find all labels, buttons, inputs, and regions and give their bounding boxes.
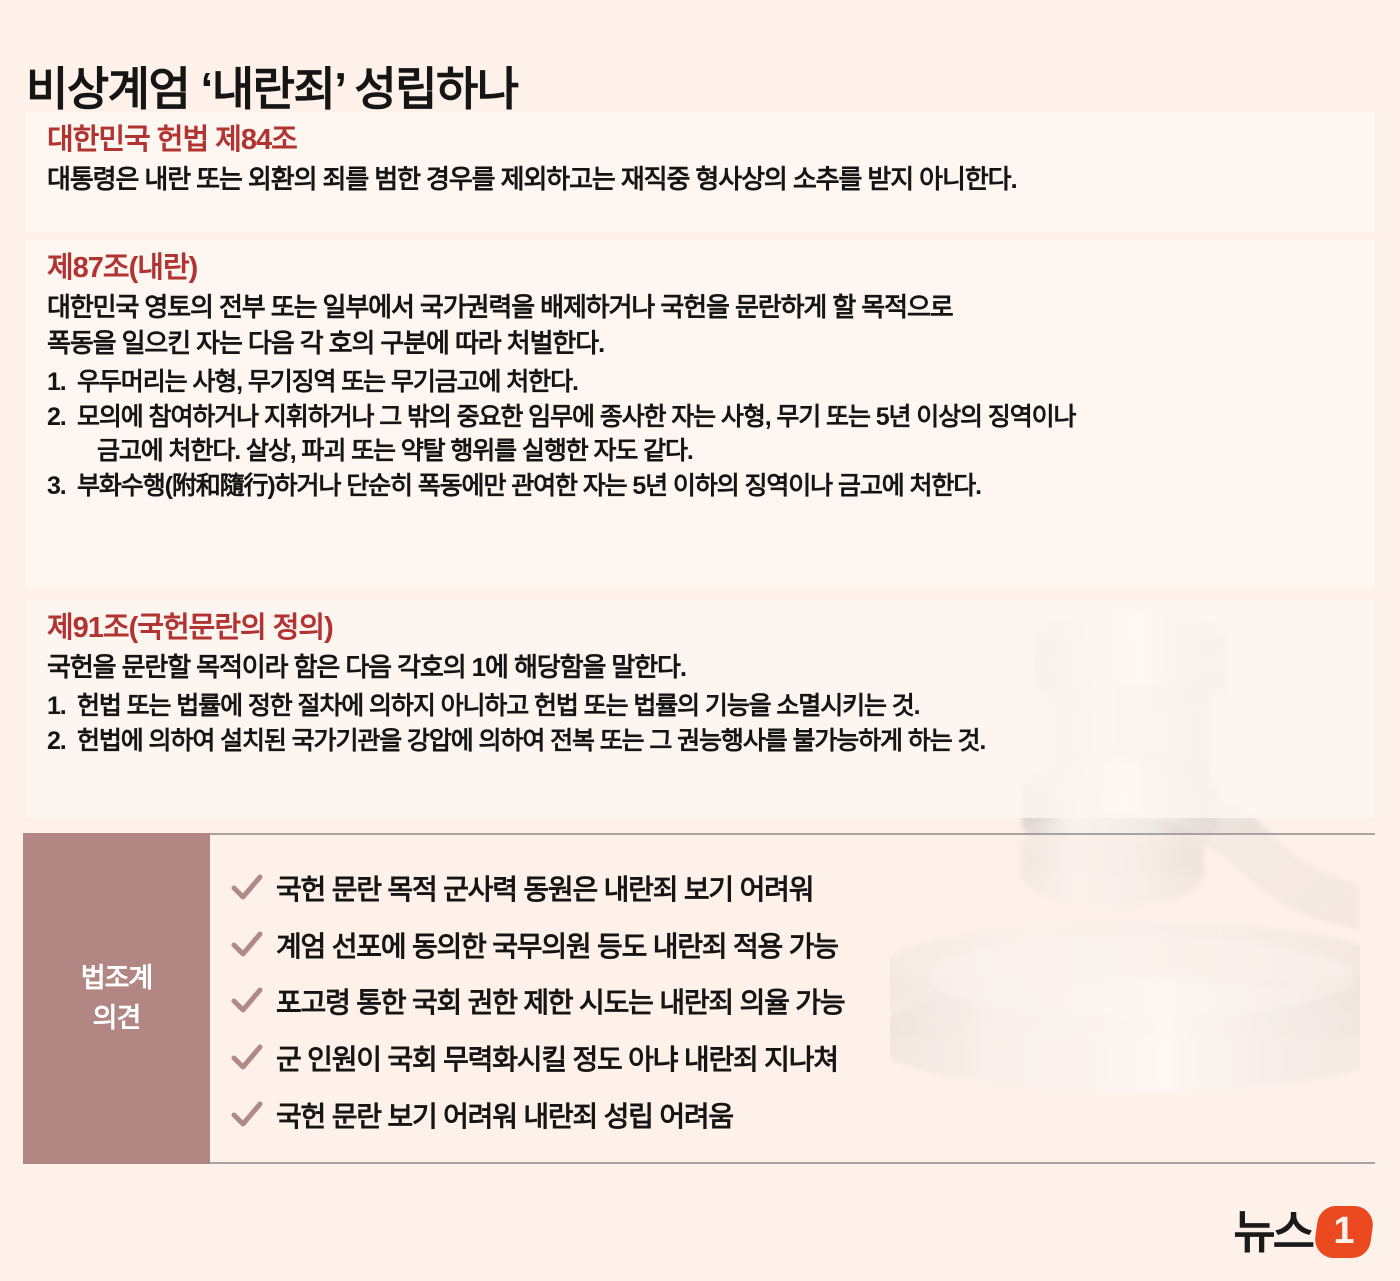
numbered-list-item: 2. 헌법에 의하여 설치된 국가기관을 강압에 의하여 전복 또는 그 권능행…	[47, 724, 1361, 758]
legal-opinion-label-box: 법조계 의견	[23, 833, 210, 1164]
legal-opinion-label-line-1: 법조계	[81, 959, 153, 998]
list-text: 헌법 또는 법률에 정한 절차에 의하지 아니하고 헌법 또는 법률의 기능을 …	[77, 689, 1361, 723]
law-card-article-87: 제87조(내란) 대한민국 영토의 전부 또는 일부에서 국가권력을 배제하거나…	[25, 240, 1375, 588]
card-heading: 대한민국 헌법 제84조	[47, 124, 1361, 157]
card-body-line: 대통령은 내란 또는 외환의 죄를 범한 경우를 제외하고는 재직중 형사상의 …	[47, 163, 1361, 197]
card-body-line: 폭동을 일으킨 자는 다음 각 호의 구분에 따라 처벌한다.	[47, 327, 1361, 361]
list-item-label: 군 인원이 국회 무력화시킬 정도 아냐 내란죄 지나쳐	[276, 1038, 838, 1078]
list-text: 우두머리는 사형, 무기징역 또는 무기금고에 처한다.	[77, 365, 1361, 399]
card-body-line: 대한민국 영토의 전부 또는 일부에서 국가권력을 배제하거나 국헌을 문란하게…	[47, 291, 1361, 325]
check-icon	[230, 928, 264, 962]
numbered-list-item: 1. 헌법 또는 법률에 정한 절차에 의하지 아니하고 헌법 또는 법률의 기…	[47, 689, 1361, 723]
legal-opinion-label-line-2: 의견	[93, 999, 141, 1038]
logo-badge-label: 1	[1316, 1206, 1372, 1258]
check-icon	[230, 1098, 264, 1132]
list-number: 1.	[47, 365, 77, 399]
list-item-label: 국헌 문란 보기 어려워 내란죄 성립 어려움	[276, 1095, 733, 1135]
list-item-label: 국헌 문란 목적 군사력 동원은 내란죄 보기 어려워	[276, 868, 813, 908]
list-item: 포고령 통한 국회 권한 제한 시도는 내란죄 의율 가능	[230, 981, 1375, 1021]
list-item: 계엄 선포에 동의한 국무의원 등도 내란죄 적용 가능	[230, 925, 1375, 965]
numbered-list-item: 1. 우두머리는 사형, 무기징역 또는 무기금고에 처한다.	[47, 365, 1361, 399]
logo-wordmark: 뉴스	[1233, 1209, 1312, 1255]
list-text-continuation: 금고에 처한다. 살상, 파괴 또는 약탈 행위를 실행한 자도 같다.	[77, 434, 1361, 468]
list-item: 국헌 문란 목적 군사력 동원은 내란죄 보기 어려워	[230, 868, 1375, 908]
law-card-article-84: 대한민국 헌법 제84조 대통령은 내란 또는 외환의 죄를 범한 경우를 제외…	[25, 112, 1375, 232]
list-item: 군 인원이 국회 무력화시킬 정도 아냐 내란죄 지나쳐	[230, 1038, 1375, 1078]
page-title: 비상계엄 ‘내란죄’ 성립하나	[26, 53, 518, 119]
card-heading: 제91조(국헌문란의 정의)	[47, 612, 1361, 645]
check-icon	[230, 1041, 264, 1075]
list-number: 2.	[47, 724, 77, 758]
list-number: 2.	[47, 400, 77, 468]
card-heading: 제87조(내란)	[47, 252, 1361, 285]
infographic-page: 비상계엄 ‘내란죄’ 성립하나 대한민국 헌법 제84조 대통령은 내란 또는 …	[0, 0, 1400, 1281]
card-body-line: 국헌을 문란할 목적이라 함은 다음 각호의 1에 해당함을 말한다.	[47, 651, 1361, 685]
list-item: 국헌 문란 보기 어려워 내란죄 성립 어려움	[230, 1095, 1375, 1135]
check-icon	[230, 871, 264, 905]
numbered-list: 1. 헌법 또는 법률에 정한 절차에 의하지 아니하고 헌법 또는 법률의 기…	[47, 689, 1361, 758]
check-icon	[230, 984, 264, 1018]
list-text: 헌법에 의하여 설치된 국가기관을 강압에 의하여 전복 또는 그 권능행사를 …	[77, 724, 1361, 758]
legal-opinion-list: 국헌 문란 목적 군사력 동원은 내란죄 보기 어려워 계엄 선포에 동의한 국…	[210, 833, 1375, 1164]
list-text: 모의에 참여하거나 지휘하거나 그 밖의 중요한 임무에 종사한 자는 사형, …	[77, 400, 1361, 468]
list-number: 1.	[47, 689, 77, 723]
news1-logo: 뉴스 1	[1233, 1205, 1372, 1259]
law-card-article-91: 제91조(국헌문란의 정의) 국헌을 문란할 목적이라 함은 다음 각호의 1에…	[25, 600, 1375, 818]
list-item-label: 계엄 선포에 동의한 국무의원 등도 내란죄 적용 가능	[276, 925, 838, 965]
legal-opinion-panel: 법조계 의견 국헌 문란 목적 군사력 동원은 내란죄 보기 어려워 계엄 선	[23, 833, 1375, 1164]
numbered-list: 1. 우두머리는 사형, 무기징역 또는 무기금고에 처한다. 2. 모의에 참…	[47, 365, 1361, 503]
card-body: 대통령은 내란 또는 외환의 죄를 범한 경우를 제외하고는 재직중 형사상의 …	[47, 163, 1361, 197]
numbered-list-item: 2. 모의에 참여하거나 지휘하거나 그 밖의 중요한 임무에 종사한 자는 사…	[47, 400, 1361, 468]
list-text: 부화수행(附和隨行)하거나 단순히 폭동에만 관여한 자는 5년 이하의 징역이…	[77, 469, 1361, 503]
list-text-line: 모의에 참여하거나 지휘하거나 그 밖의 중요한 임무에 종사한 자는 사형, …	[77, 403, 1075, 431]
list-item-label: 포고령 통한 국회 권한 제한 시도는 내란죄 의율 가능	[276, 981, 844, 1021]
card-body: 대한민국 영토의 전부 또는 일부에서 국가권력을 배제하거나 국헌을 문란하게…	[47, 291, 1361, 361]
list-number: 3.	[47, 469, 77, 503]
numbered-list-item: 3. 부화수행(附和隨行)하거나 단순히 폭동에만 관여한 자는 5년 이하의 …	[47, 469, 1361, 503]
logo-badge-icon: 1	[1312, 1206, 1375, 1258]
card-body: 국헌을 문란할 목적이라 함은 다음 각호의 1에 해당함을 말한다.	[47, 651, 1361, 685]
